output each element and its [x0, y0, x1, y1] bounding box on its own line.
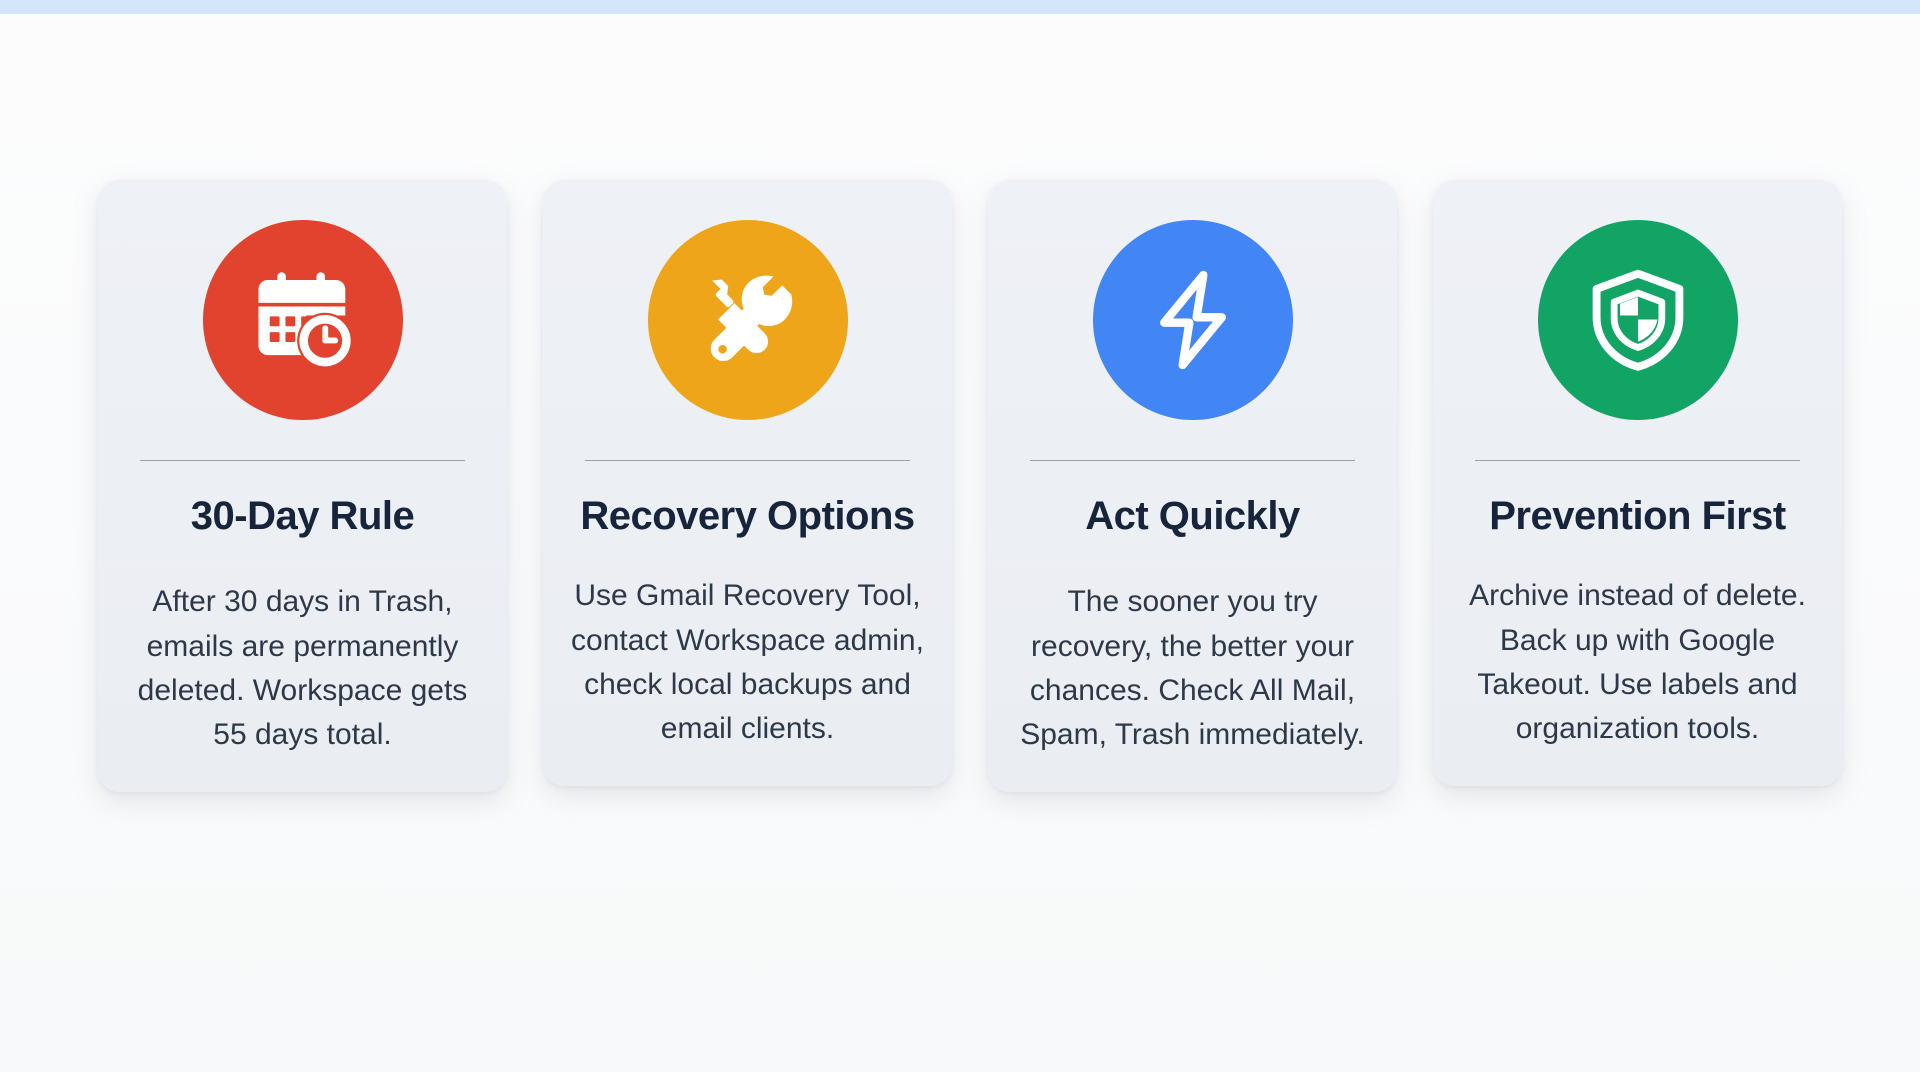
lightning-bolt-icon	[1093, 220, 1293, 420]
card-body-text: After 30 days in Trash, emails are perma…	[124, 540, 481, 758]
card-title: Recovery Options	[569, 461, 926, 540]
top-band	[0, 0, 1920, 14]
tools-icon	[648, 220, 848, 420]
info-card-act-quickly[interactable]: Act Quickly The sooner you try recovery,…	[988, 180, 1397, 792]
page-root: 30-Day Rule After 30 days in Trash, emai…	[0, 0, 1920, 1072]
card-body-text: Archive instead of delete. Back up with …	[1459, 540, 1816, 752]
info-card-recovery-options[interactable]: Recovery Options Use Gmail Recovery Tool…	[543, 180, 952, 786]
shield-icon	[1538, 220, 1738, 420]
card-body-text: The sooner you try recovery, the better …	[1014, 540, 1371, 758]
info-card-prevention-first[interactable]: Prevention First Archive instead of dele…	[1433, 180, 1842, 786]
card-title: Prevention First	[1459, 461, 1816, 540]
card-title: Act Quickly	[1014, 461, 1371, 540]
info-card-30-day-rule[interactable]: 30-Day Rule After 30 days in Trash, emai…	[98, 180, 507, 792]
card-body-text: Use Gmail Recovery Tool, contact Workspa…	[569, 540, 926, 752]
calendar-clock-icon	[203, 220, 403, 420]
card-title: 30-Day Rule	[124, 461, 481, 540]
cards-container: 30-Day Rule After 30 days in Trash, emai…	[98, 180, 1842, 792]
